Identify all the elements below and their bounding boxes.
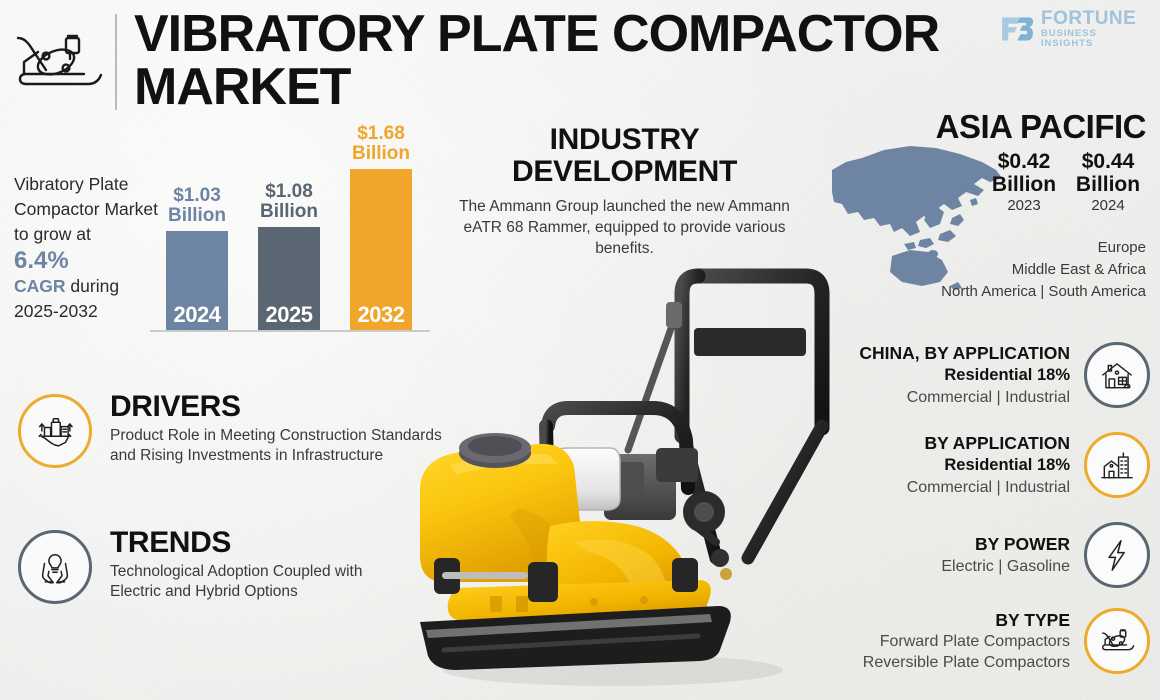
ap-value-2024: $0.44 bbox=[1070, 150, 1146, 173]
by-type-list-2: Reversible Plate Compactors bbox=[863, 652, 1070, 673]
narrative-line-1: Vibratory Plate bbox=[14, 174, 128, 194]
vibratory-plate-compactor-photo bbox=[398, 258, 850, 700]
cagr-value: 6.4% bbox=[14, 247, 159, 275]
by-application-highlight: Residential 18% bbox=[907, 455, 1070, 477]
by-type-list-1: Forward Plate Compactors bbox=[863, 631, 1070, 652]
asia-pacific-figure-2023: $0.42 Billion 2023 bbox=[986, 150, 1062, 216]
infographic-canvas: VIBRATORY PLATE COMPACTOR MARKET FORTUNE… bbox=[0, 0, 1160, 700]
market-growth-narrative: Vibratory Plate Compactor Market to grow… bbox=[14, 172, 159, 324]
by-application-heading: BY APPLICATION bbox=[907, 432, 1070, 455]
other-regions-list: Europe Middle East & Africa North Americ… bbox=[826, 237, 1146, 302]
by-application-list: Commercial | Industrial bbox=[907, 477, 1070, 498]
narrative-line-2: Compactor Market bbox=[14, 199, 158, 219]
ap-value-2023: $0.42 bbox=[986, 150, 1062, 173]
asia-pacific-figures: $0.42 Billion 2023 $0.44 Billion 2024 bbox=[986, 150, 1146, 216]
asia-pacific-figure-2024: $0.44 Billion 2024 bbox=[1070, 150, 1146, 216]
region-europe: Europe bbox=[826, 237, 1146, 259]
drivers-block: DRIVERS Product Role in Meeting Construc… bbox=[18, 392, 488, 467]
plate-compactor-icon bbox=[1084, 608, 1150, 674]
fortune-business-insights-logo: FORTUNE BUSINESS INSIGHTS bbox=[1000, 8, 1150, 50]
bar-value-label-2024: $1.03Billion bbox=[156, 186, 238, 231]
fb-monogram-icon bbox=[1000, 14, 1036, 44]
category-china-by-application: CHINA, BY APPLICATION Residential 18% Co… bbox=[820, 342, 1150, 408]
bar-category-2025: 2025 bbox=[258, 302, 320, 328]
during-label: during bbox=[70, 276, 119, 296]
industry-title-line-2: DEVELOPMENT bbox=[512, 155, 737, 188]
category-by-power: BY POWER Electric | Gasoline bbox=[820, 522, 1150, 588]
trends-heading: TRENDS bbox=[110, 528, 488, 559]
region-americas: North America | South America bbox=[826, 281, 1146, 303]
bar-value-label-2025: $1.08Billion bbox=[248, 182, 330, 227]
chart-axis-line bbox=[150, 330, 430, 332]
drivers-text: DRIVERS Product Role in Meeting Construc… bbox=[110, 392, 488, 467]
by-type-heading: BY TYPE bbox=[863, 609, 1070, 632]
category-by-type: BY TYPE Forward Plate Compactors Reversi… bbox=[820, 608, 1150, 674]
cagr-label: CAGR bbox=[14, 276, 66, 296]
logo-wordmark: FORTUNE BUSINESS INSIGHTS bbox=[1041, 9, 1150, 49]
logo-secondary-text: BUSINESS INSIGHTS bbox=[1041, 29, 1150, 49]
bar-2025: 2025 bbox=[258, 227, 320, 330]
ap-year-2023: 2023 bbox=[986, 196, 1062, 216]
china-application-highlight: Residential 18% bbox=[859, 365, 1070, 387]
narrative-line-3: to grow at bbox=[14, 224, 91, 244]
bar-value-label-2032: $1.68Billion bbox=[340, 124, 422, 169]
industry-development-block: INDUSTRY DEVELOPMENT The Ammann Group la… bbox=[452, 124, 797, 260]
by-power-list: Electric | Gasoline bbox=[941, 556, 1070, 577]
by-power-text: BY POWER Electric | Gasoline bbox=[941, 533, 1070, 577]
drivers-body: Product Role in Meeting Construction Sta… bbox=[110, 426, 488, 467]
trends-text: TRENDS Technological Adoption Coupled wi… bbox=[110, 528, 488, 603]
page-title: VIBRATORY PLATE COMPACTOR MARKET bbox=[134, 8, 984, 114]
category-by-application: BY APPLICATION Residential 18% Commercia… bbox=[820, 432, 1150, 498]
ap-year-2024: 2024 bbox=[1070, 196, 1146, 216]
china-application-text: CHINA, BY APPLICATION Residential 18% Co… bbox=[859, 342, 1070, 408]
trends-block: TRENDS Technological Adoption Coupled wi… bbox=[18, 528, 488, 603]
china-application-heading: CHINA, BY APPLICATION bbox=[859, 342, 1070, 365]
industry-development-body: The Ammann Group launched the new Ammann… bbox=[452, 197, 797, 260]
region-mea: Middle East & Africa bbox=[826, 259, 1146, 281]
bar-category-2024: 2024 bbox=[166, 302, 228, 328]
bar-group-2024: $1.03Billion 2024 bbox=[166, 231, 228, 330]
industry-development-title: INDUSTRY DEVELOPMENT bbox=[452, 124, 797, 189]
forecast-period: 2025-2032 bbox=[14, 301, 98, 321]
ap-unit-2023: Billion bbox=[986, 173, 1062, 196]
plate-compactor-icon bbox=[8, 22, 108, 92]
industry-title-line-1: INDUSTRY bbox=[550, 123, 700, 156]
bar-2024: 2024 bbox=[166, 231, 228, 330]
by-type-text: BY TYPE Forward Plate Compactors Reversi… bbox=[863, 609, 1070, 674]
hands-lightbulb-icon bbox=[18, 530, 92, 604]
drivers-heading: DRIVERS bbox=[110, 392, 488, 423]
logo-primary-text: FORTUNE bbox=[1041, 9, 1150, 29]
city-buildings-icon bbox=[1084, 432, 1150, 498]
trends-body: Technological Adoption Coupled with Elec… bbox=[110, 562, 488, 603]
industry-gear-icon bbox=[18, 394, 92, 468]
market-size-bar-chart: $1.03Billion 2024 $1.08Billion 2025 $1.6… bbox=[150, 140, 430, 340]
lightning-bolt-icon bbox=[1084, 522, 1150, 588]
house-icon bbox=[1084, 342, 1150, 408]
by-power-heading: BY POWER bbox=[941, 533, 1070, 556]
china-application-list: Commercial | Industrial bbox=[859, 387, 1070, 408]
bar-group-2025: $1.08Billion 2025 bbox=[258, 227, 320, 330]
by-application-text: BY APPLICATION Residential 18% Commercia… bbox=[907, 432, 1070, 498]
header-divider bbox=[115, 14, 117, 110]
ap-unit-2024: Billion bbox=[1070, 173, 1146, 196]
